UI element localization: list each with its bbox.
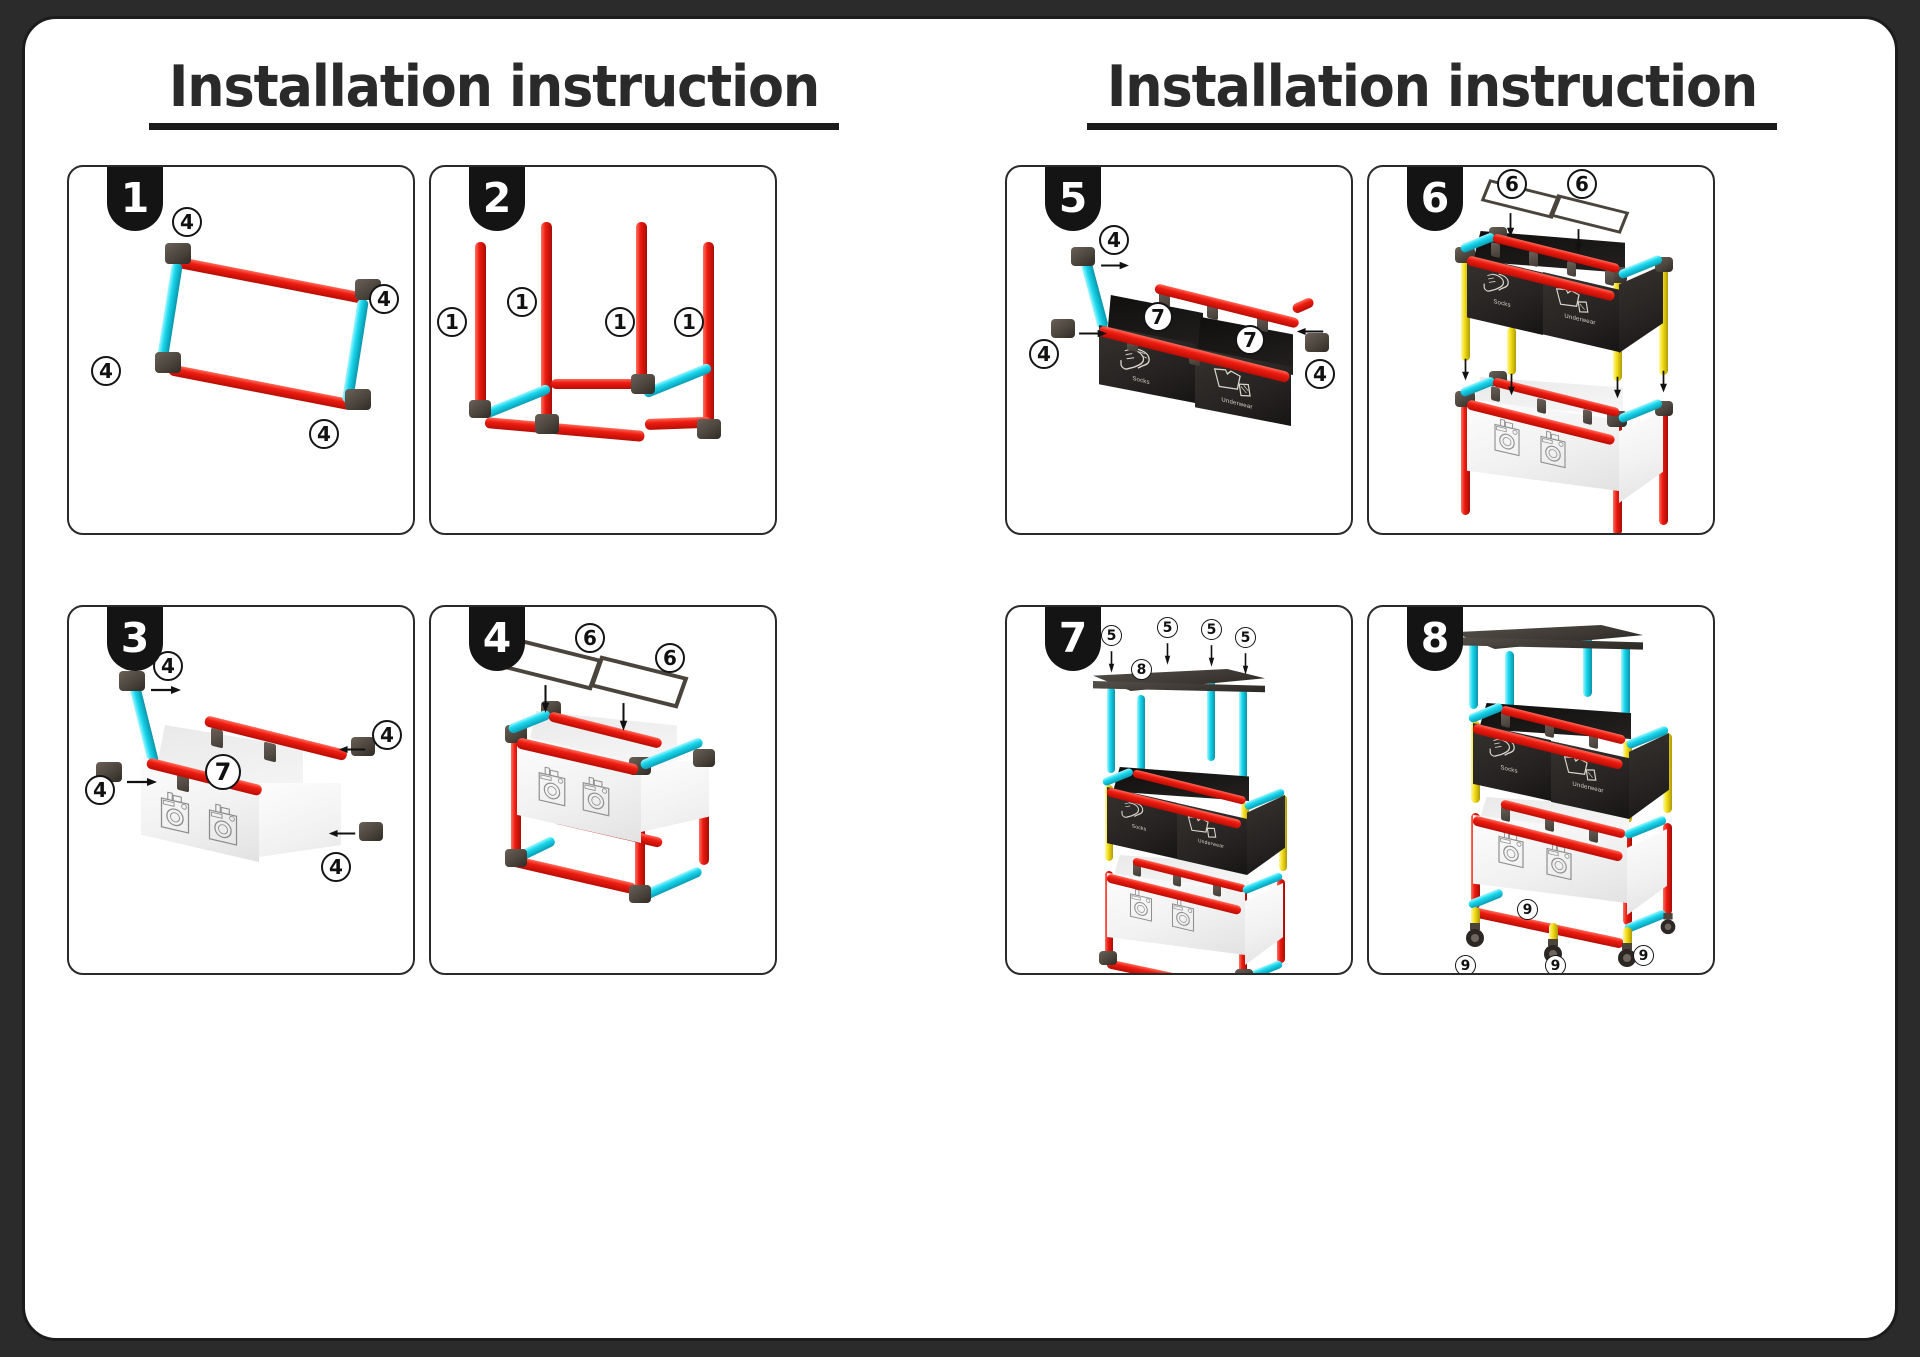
cyan-post-left-back xyxy=(1469,641,1478,709)
bin-clip-c xyxy=(1567,261,1576,277)
callout-part-5-b: 5 xyxy=(1157,617,1178,638)
callout-part-4-b: 4 xyxy=(85,775,115,805)
panel-step-8: 8 xyxy=(1367,605,1715,975)
callout-part-7-a: 7 xyxy=(1143,302,1173,332)
step-number-4: 4 xyxy=(469,605,525,671)
bin-clip-a xyxy=(1491,242,1500,258)
insert-arrow-c xyxy=(1207,643,1216,669)
corner-connector-bottom-lf xyxy=(505,849,527,867)
bin-clip-b xyxy=(264,742,276,763)
callout-part-4-b: 4 xyxy=(369,284,399,314)
caster-wheel-back xyxy=(1657,913,1679,937)
callout-part-9-a: 9 xyxy=(1455,955,1476,975)
drop-arrow-post-b xyxy=(1506,372,1517,398)
drop-arrow-post-d xyxy=(1658,369,1669,395)
assembly-arrow-bottom xyxy=(125,775,159,789)
step-number-2: 2 xyxy=(469,165,525,231)
assembly-arrow-bottom xyxy=(1077,327,1109,340)
panel-step-1: 1 4 4 4 xyxy=(67,165,415,535)
callout-part-7-b: 7 xyxy=(1235,325,1265,355)
page-title-left: Installation instruction xyxy=(63,54,926,120)
assembly-arrow-right xyxy=(1295,325,1325,338)
connector-loose-bottom xyxy=(1051,319,1075,338)
callout-part-6-a: 6 xyxy=(575,623,605,653)
callout-part-9-b: 9 xyxy=(1545,955,1566,975)
lid-frame-right xyxy=(1549,194,1630,234)
callout-part-4-b: 4 xyxy=(1029,339,1059,369)
red-post-right-front xyxy=(703,242,714,427)
red-post-right-back xyxy=(636,222,647,387)
connector-loose-top xyxy=(1071,247,1095,266)
callout-part-4-a: 4 xyxy=(1099,225,1129,255)
step-number-3: 3 xyxy=(107,605,163,671)
callout-part-4-c: 4 xyxy=(1305,359,1335,389)
callout-part-6-b: 6 xyxy=(655,643,685,673)
corner-connector-bottom-right xyxy=(345,389,371,410)
drop-arrow-left xyxy=(539,683,552,715)
bin-clip-f xyxy=(1537,398,1546,414)
caster-wheel-left xyxy=(1463,923,1487,949)
step-number-8: 8 xyxy=(1407,605,1463,671)
yellow-post-center xyxy=(1507,327,1516,375)
cyan-post-right-front xyxy=(1621,643,1630,717)
washing-machine-icon-right xyxy=(205,798,241,848)
instruction-half-right: Installation instruction 5 xyxy=(963,19,1901,1338)
corner-connector-floor-left xyxy=(1099,951,1117,965)
red-tube-base-front xyxy=(485,417,645,442)
red-post-left-back xyxy=(475,242,486,407)
callout-part-4-c: 4 xyxy=(372,720,402,750)
red-tube-bottom-front xyxy=(510,855,637,895)
callout-part-4-c: 4 xyxy=(91,356,121,386)
bin-clip-a xyxy=(211,728,223,749)
cyan-post-left-back xyxy=(1107,687,1115,773)
assembly-arrow-right-lower xyxy=(327,827,357,840)
white-bin-side xyxy=(1627,829,1667,915)
page-title-right: Installation instruction xyxy=(1001,54,1864,120)
drop-arrow-lid-left xyxy=(1505,211,1516,239)
drop-arrow-post-a xyxy=(1460,357,1471,383)
callout-part-1-a: 1 xyxy=(437,307,467,337)
panel-step-5: 5 Socks xyxy=(1005,165,1353,535)
red-tube-front xyxy=(168,364,355,411)
step-number-1: 1 xyxy=(107,165,163,231)
connector-loose-top xyxy=(119,671,145,691)
callout-part-1-d: 1 xyxy=(674,307,704,337)
red-tube-base-back xyxy=(551,379,643,389)
corner-connector-left-back xyxy=(469,400,491,418)
bin-clip-e xyxy=(1491,386,1500,402)
bin-clip-g xyxy=(1583,409,1592,425)
washing-machine-icon-left xyxy=(535,761,569,809)
corner-connector-top-left xyxy=(165,243,191,264)
callout-part-7: 7 xyxy=(205,754,241,790)
assembly-arrow-right-upper xyxy=(337,743,367,756)
callout-part-8: 8 xyxy=(1131,659,1152,680)
callout-part-5-d: 5 xyxy=(1235,627,1256,648)
corner-connector-bottom-rf xyxy=(629,885,651,903)
callout-part-6-a: 6 xyxy=(1497,169,1527,199)
insert-arrow-b xyxy=(1163,641,1172,667)
step-number-5: 5 xyxy=(1045,165,1101,231)
title-underline-left xyxy=(149,123,839,130)
instruction-half-left: Installation instruction 1 xyxy=(25,19,963,1338)
callout-part-9-d: 9 xyxy=(1517,899,1538,920)
assembly-arrow-top xyxy=(1099,259,1131,272)
callout-part-1-b: 1 xyxy=(507,287,537,317)
corner-connector-left-front xyxy=(535,414,559,434)
bin-clip-b xyxy=(1529,251,1538,267)
bin-clip-d xyxy=(1605,270,1614,286)
washing-machine-icon-right xyxy=(579,771,613,819)
corner-connector-right-back xyxy=(631,374,655,394)
callout-part-6-b: 6 xyxy=(1567,169,1597,199)
cyan-post-right-back xyxy=(1207,679,1215,761)
callout-part-1-c: 1 xyxy=(605,307,635,337)
step-number-6: 6 xyxy=(1407,165,1463,231)
drop-arrow-lid-right xyxy=(1573,227,1584,255)
top-shelf-edge xyxy=(1453,637,1643,655)
red-tube-floor-front xyxy=(1106,959,1241,975)
panel-step-7: 7 xyxy=(1005,605,1353,975)
assembly-arrow-top xyxy=(149,683,183,697)
corner-connector-floor-right xyxy=(1235,969,1253,975)
step-number-7: 7 xyxy=(1045,605,1101,671)
red-tube-rim-right xyxy=(1291,296,1315,314)
callout-part-4-a: 4 xyxy=(172,207,202,237)
callout-part-5-c: 5 xyxy=(1201,619,1222,640)
panel-step-6: 6 Socks xyxy=(1367,165,1715,535)
panel-step-2: 2 1 xyxy=(429,165,777,535)
washing-machine-icon-left xyxy=(157,786,193,836)
corner-connector-rb xyxy=(693,749,715,767)
corner-connector-bottom-left xyxy=(155,352,181,373)
panel-step-4: 4 xyxy=(429,605,777,975)
title-underline-right xyxy=(1087,123,1777,130)
connector-right-lower xyxy=(359,822,383,841)
drop-arrow-right xyxy=(617,701,630,733)
drop-arrow-post-c xyxy=(1612,375,1623,401)
cyan-post-right-front xyxy=(1239,689,1247,781)
callout-part-5-a: 5 xyxy=(1101,625,1122,646)
instruction-sheet: Installation instruction 1 xyxy=(22,16,1898,1341)
red-tube-back xyxy=(178,257,365,304)
insert-arrow-a xyxy=(1107,649,1116,675)
panel-step-3: 3 xyxy=(67,605,415,975)
callout-part-4-d: 4 xyxy=(321,852,351,882)
callout-part-9-c: 9 xyxy=(1633,945,1654,966)
callout-part-4-d: 4 xyxy=(309,419,339,449)
cyan-tube-right xyxy=(342,298,369,403)
corner-connector-right-front xyxy=(697,419,721,439)
insert-arrow-d xyxy=(1241,651,1250,677)
